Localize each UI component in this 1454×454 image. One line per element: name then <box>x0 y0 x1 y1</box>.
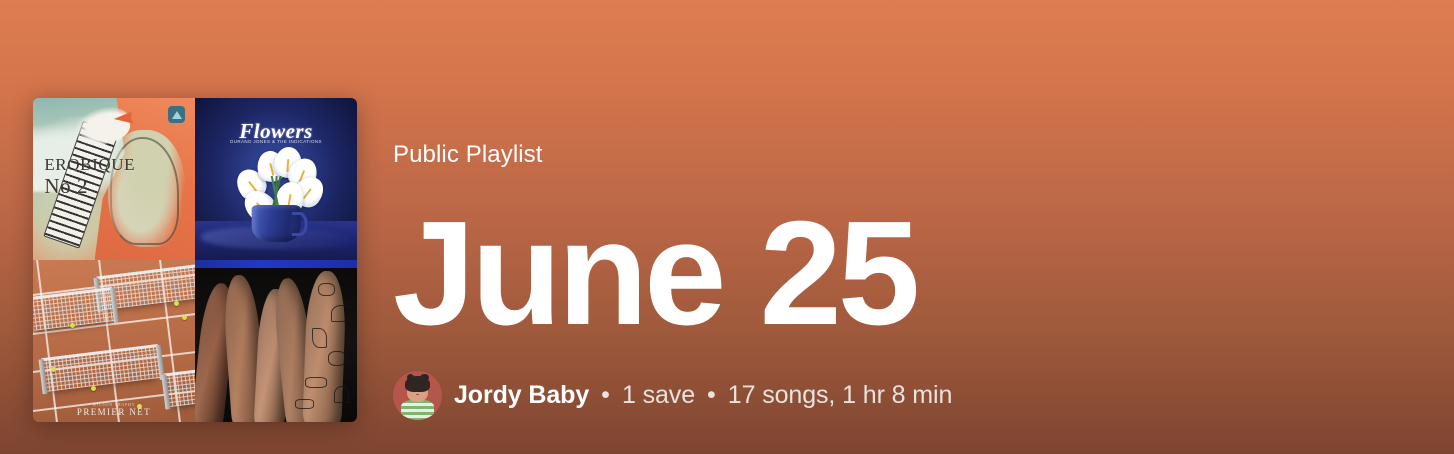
avatar-shirt <box>401 400 434 420</box>
meta-separator-dot: • <box>707 383 716 408</box>
playlist-songs-duration: 17 songs, 1 hr 8 min <box>728 383 953 408</box>
premier-net-sub: WILSON TROPHY <box>33 402 195 407</box>
tattoo-mark <box>328 351 346 366</box>
album-cover-premier-net: WILSON TROPHY PREMIER NET <box>33 260 195 422</box>
playlist-header: EROBIQUE No 2 Flowers DURAND JONES & THE… <box>0 0 1454 454</box>
avatar[interactable] <box>393 371 442 420</box>
album-cover-erobique: EROBIQUE No 2 <box>33 98 195 260</box>
premier-net-caption: WILSON TROPHY PREMIER NET <box>33 402 195 417</box>
court-line <box>34 260 60 422</box>
erobique-album-title: EROBIQUE No 2 <box>44 156 135 197</box>
tattoo-mark <box>305 377 326 389</box>
tennis-ball-icon <box>182 315 187 320</box>
premier-net-title: PREMIER NET <box>77 407 151 417</box>
playlist-cover-collage[interactable]: EROBIQUE No 2 Flowers DURAND JONES & THE… <box>33 98 357 422</box>
tattoo-mark <box>312 328 327 348</box>
tennis-ball-icon <box>91 386 96 391</box>
playlist-owner-link[interactable]: Jordy Baby <box>454 383 589 408</box>
tattoo-mark <box>295 399 313 409</box>
tattoo-mark <box>331 305 351 322</box>
playlist-visibility-label: Public Playlist <box>393 143 952 167</box>
playlist-title[interactable]: June 25 <box>393 203 952 345</box>
tennis-net <box>41 344 161 392</box>
playlist-meta-row: Jordy Baby • 1 save • 17 songs, 1 hr 8 m… <box>393 371 952 420</box>
playlist-header-text: Public Playlist June 25 Jordy Baby • 1 s… <box>357 143 952 426</box>
avatar-mouth <box>416 394 419 395</box>
tennis-ball-icon <box>174 301 179 306</box>
tattoo-mark <box>334 386 349 403</box>
album-cover-flowers: Flowers DURAND JONES & THE INDICATIONS <box>195 98 357 260</box>
erobique-subtitle-text: No 2 <box>44 175 135 197</box>
tennis-net <box>164 367 195 407</box>
playlist-saves-count: 1 save <box>622 383 695 408</box>
avatar-hair <box>405 376 430 392</box>
legs-photo-blue-band <box>195 260 357 268</box>
tattoo-mark <box>318 283 335 296</box>
flower-vase <box>252 205 301 242</box>
flowers-album-subtitle: DURAND JONES & THE INDICATIONS <box>195 139 357 144</box>
album-cover-legs-photo <box>195 260 357 422</box>
record-label-badge-icon <box>168 106 185 123</box>
erobique-title-text: EROBIQUE <box>44 155 135 174</box>
tennis-ball-icon <box>51 367 56 372</box>
meta-separator-dot: • <box>601 383 610 408</box>
